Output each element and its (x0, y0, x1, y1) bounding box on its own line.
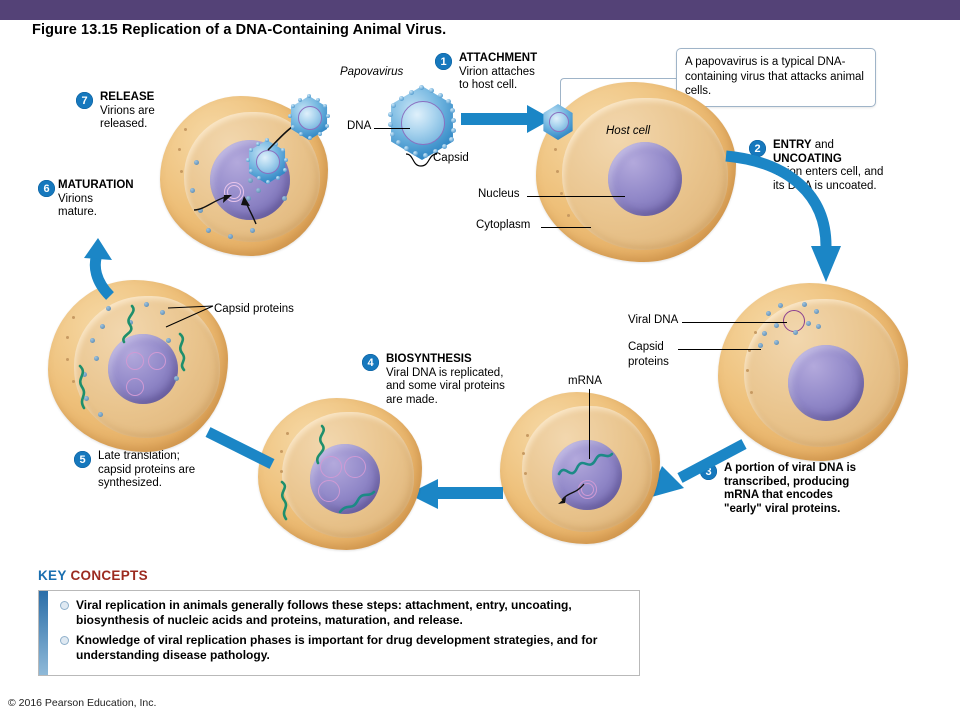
protein-strand-icon-2 (174, 332, 204, 372)
nucleus-leader-line (527, 196, 625, 197)
step-6-title: MATURATION (58, 179, 134, 191)
nucleus-label: Nucleus (478, 188, 520, 200)
cell-transcribing (500, 392, 660, 544)
viral-dna-core-icon (401, 101, 445, 145)
step-badge-6: 6 (38, 180, 55, 197)
transcription-arrow-icon (556, 480, 590, 506)
step-1-line1: Virion attaches (459, 66, 535, 78)
step-4-line2: and some viral proteins (386, 380, 505, 392)
step-badge-5: 5 (74, 451, 91, 468)
mrna-label: mRNA (568, 375, 602, 387)
step-4-line1: Viral DNA is replicated, (386, 367, 503, 379)
step-3-line4: "early" viral proteins. (724, 503, 840, 515)
mrna-strand-icon-3 (276, 480, 310, 522)
step-3-transcription: A portion of viral DNA is transcribed, p… (724, 462, 904, 516)
mrna-strand-icon-4 (338, 486, 378, 516)
cytoplasm-leader-line (541, 227, 591, 228)
viral-dna-leader-line (682, 322, 787, 323)
header-bar (0, 0, 960, 20)
key-concepts-accent-bar (39, 591, 48, 675)
capsid-proteins-left-leader-lines (150, 300, 216, 334)
figure-title: Figure 13.15 Replication of a DNA-Contai… (32, 22, 446, 38)
capsid-proteins-right-leader-line (678, 349, 761, 350)
step-7-title: RELEASE (100, 91, 154, 103)
viral-dna-label: Viral DNA (628, 314, 678, 326)
key-concepts-item-2: Knowledge of viral replication phases is… (59, 633, 631, 663)
capsid-proteins-right-label-line1: Capsid (628, 341, 664, 353)
step-badge-7: 7 (76, 92, 93, 109)
protein-strand-icon-3 (74, 364, 104, 410)
figure-canvas: Figure 13.15 Replication of a DNA-Contai… (0, 0, 960, 720)
arrow-maturation (76, 238, 146, 300)
key-concepts-title-concepts: CONCEPTS (70, 568, 147, 583)
step-4-title: BIOSYNTHESIS (386, 353, 472, 365)
step-5-line3: synthesized. (98, 477, 162, 489)
step-7-line1: Virions are (100, 105, 155, 117)
arrow-entry-uncoating (720, 150, 850, 300)
dna-label: DNA (347, 120, 371, 132)
key-concepts-list: Viral replication in animals generally f… (59, 598, 631, 668)
cell-biosynthesis (258, 398, 422, 550)
virion-attached (541, 104, 575, 140)
capsid-proteins-left-label: Capsid proteins (214, 303, 294, 315)
key-concepts-item-1: Viral replication in animals generally f… (59, 598, 631, 628)
key-concepts-title-key: KEY (38, 568, 66, 583)
step-7-line2: released. (100, 118, 147, 130)
key-concepts-title: KEY CONCEPTS (38, 568, 148, 583)
protein-strand-icon-1 (110, 304, 148, 344)
mrna-leader-line (589, 389, 590, 459)
assembly-arrow-icon-1 (192, 192, 236, 214)
step-1-line2: to host cell. (459, 79, 517, 91)
papovavirus-label: Papovavirus (340, 66, 403, 78)
cell-uncoated (718, 283, 908, 461)
step-badge-1: 1 (435, 53, 452, 70)
step-1-title: ATTACHMENT (459, 52, 537, 64)
virion-released (288, 96, 330, 140)
viral-dna-circle-icon (783, 310, 805, 332)
step-badge-4: 4 (362, 354, 379, 371)
virion-papovavirus (386, 86, 458, 160)
cytoplasm-label: Cytoplasm (476, 219, 530, 231)
mrna-strand-icon (556, 448, 618, 482)
host-cell-label: Host cell (606, 125, 650, 137)
key-concepts-box: Viral replication in animals generally f… (38, 590, 640, 676)
capsid-label: Capsid (433, 152, 469, 164)
capsid-proteins-right-label-line2: proteins (628, 356, 669, 368)
assembly-arrow-icon-2 (234, 194, 260, 226)
step-6-line2: mature. (58, 206, 97, 218)
step-6-line1: Virions (58, 193, 93, 205)
copyright-notice: © 2016 Pearson Education, Inc. (8, 697, 156, 709)
mrna-strand-icon-2 (304, 424, 338, 466)
dna-leader-line (374, 128, 410, 129)
